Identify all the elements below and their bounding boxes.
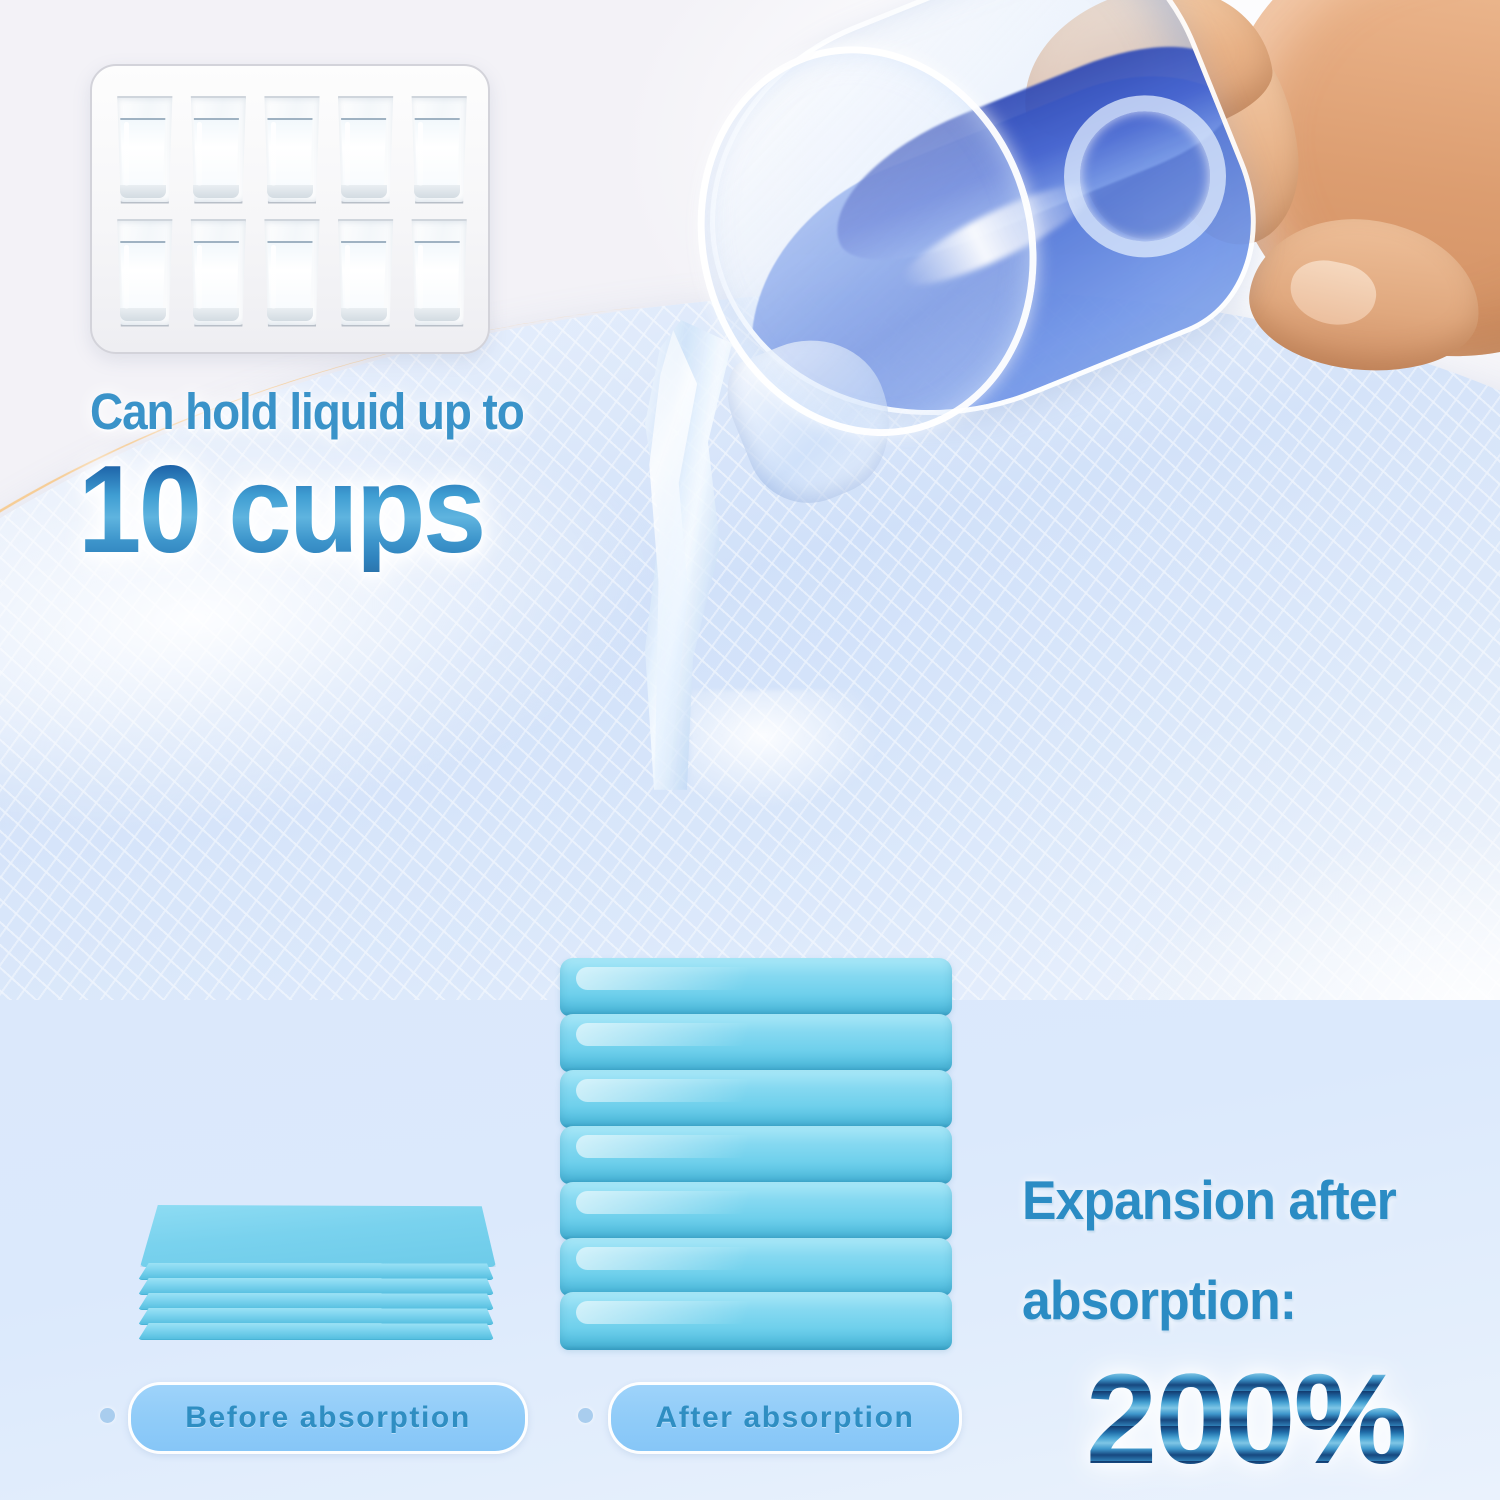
pad-sheet bbox=[138, 1308, 494, 1325]
pad-sheet bbox=[138, 1263, 494, 1280]
pad-sheet bbox=[138, 1278, 494, 1295]
water-glass-icon bbox=[262, 219, 318, 323]
pad-sheet bbox=[560, 1182, 952, 1240]
water-glass-icon bbox=[188, 96, 244, 200]
capacity-subtitle: Can hold liquid up to bbox=[90, 382, 524, 441]
pad-sheet-top bbox=[140, 1205, 496, 1267]
expansion-percentage-value: 200% bbox=[1086, 1356, 1405, 1484]
pad-sheet bbox=[560, 1070, 952, 1128]
water-glass-icon bbox=[409, 96, 465, 200]
pad-sheet bbox=[560, 1014, 952, 1072]
product-infographic: Can hold liquid up to 10 cups Before abs… bbox=[0, 0, 1500, 1500]
glass-pitcher-icon bbox=[650, 0, 1289, 497]
water-glass-icon bbox=[409, 219, 465, 323]
capacity-value: 10 cups bbox=[78, 448, 484, 572]
before-absorption-pad-stack bbox=[126, 1205, 510, 1350]
before-absorption-label: Before absorption bbox=[128, 1382, 528, 1454]
water-glass-icon bbox=[188, 219, 244, 323]
after-absorption-pad-stack bbox=[560, 958, 960, 1350]
pad-sheet bbox=[560, 1126, 952, 1184]
pad-sheet bbox=[138, 1323, 494, 1340]
water-glass-icon bbox=[262, 96, 318, 200]
pad-sheet bbox=[138, 1293, 494, 1310]
pad-sheet bbox=[560, 958, 952, 1016]
after-absorption-label: After absorption bbox=[608, 1382, 962, 1454]
hand-pouring-pitcher bbox=[690, 0, 1500, 430]
bullet-dot-icon bbox=[578, 1408, 593, 1423]
expansion-title-line2: absorption: bbox=[1022, 1268, 1296, 1332]
water-splash bbox=[690, 690, 900, 820]
bullet-dot-icon bbox=[100, 1408, 115, 1423]
water-glass-icon bbox=[115, 219, 171, 323]
pad-sheet bbox=[560, 1292, 952, 1350]
water-glass-icon bbox=[115, 96, 171, 200]
expansion-title-line1: Expansion after bbox=[1022, 1168, 1396, 1232]
ten-cups-tray bbox=[90, 64, 490, 354]
before-absorption-text: Before absorption bbox=[185, 1401, 471, 1435]
top-panel-absorbency: Can hold liquid up to 10 cups bbox=[0, 0, 1500, 1100]
water-glass-icon bbox=[336, 219, 392, 323]
after-absorption-text: After absorption bbox=[656, 1401, 915, 1435]
pad-sheet bbox=[560, 1238, 952, 1296]
water-glass-icon bbox=[336, 96, 392, 200]
